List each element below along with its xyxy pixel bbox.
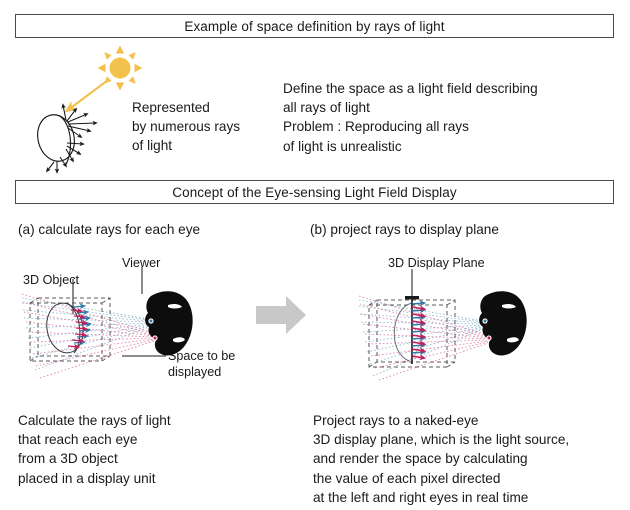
diagram-project-rays [325, 272, 585, 392]
section-title-top-label: Example of space definition by rays of l… [184, 19, 444, 34]
caption-a: (a) calculate rays for each eye [18, 220, 200, 239]
section-title-top: Example of space definition by rays of l… [15, 14, 614, 38]
viewer-head-silhouette-icon [145, 291, 193, 355]
description-a: Calculate the rays of light that reach e… [18, 411, 171, 488]
section-title-bottom: Concept of the Eye-sensing Light Field D… [15, 180, 614, 204]
section-title-bottom-label: Concept of the Eye-sensing Light Field D… [172, 185, 457, 200]
diagram-calculate-rays [18, 272, 268, 392]
right-arrow-icon [256, 294, 308, 336]
description-b: Project rays to a naked-eye 3D display p… [313, 411, 569, 507]
label-viewer: Viewer [122, 256, 160, 272]
caption-b: (b) project rays to display plane [310, 220, 499, 239]
define-space-text: Define the space as a light field descri… [283, 79, 538, 156]
viewer-head-silhouette-icon [479, 291, 527, 355]
represented-text: Represented by numerous rays of light [132, 98, 240, 156]
display-plane-icon [405, 296, 419, 364]
label-3d-display-plane: 3D Display Plane [388, 256, 485, 272]
numerous-rays-icon [30, 100, 140, 178]
